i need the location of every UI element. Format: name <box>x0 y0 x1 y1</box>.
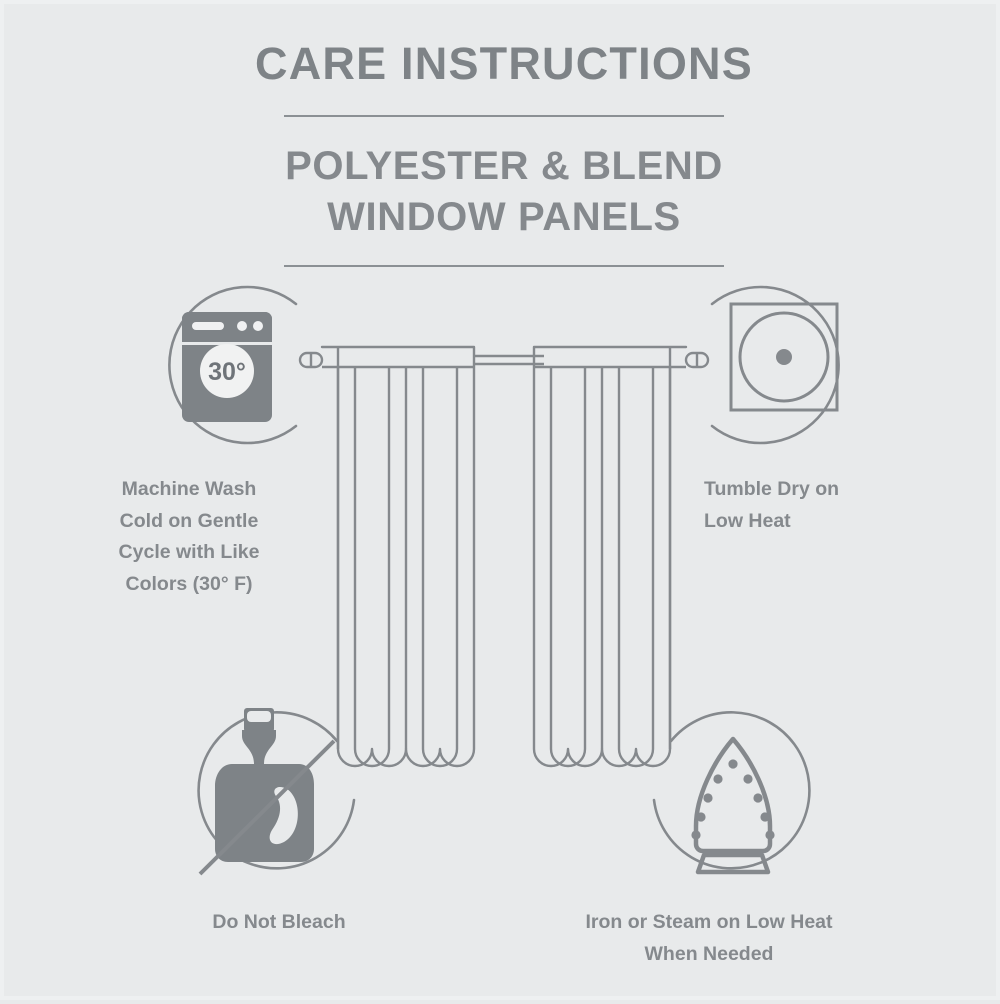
tumble-dry-caption: Tumble Dry on Low Heat <box>704 474 954 537</box>
right-pleat-1 <box>619 367 653 766</box>
iron-caption: Iron or Steam on Low Heat When Needed <box>534 907 884 970</box>
machine-wash-caption-line-1: Machine Wash <box>44 474 334 506</box>
tumble-dry-caption-line-2: Low Heat <box>704 506 954 538</box>
machine-wash-caption-line-4: Colors (30° F) <box>44 569 334 601</box>
curtain-illustration <box>300 347 708 766</box>
dryer-low-heat-dot <box>776 349 792 365</box>
machine-wash-caption-line-2: Cold on Gentle <box>44 506 334 538</box>
bleach-bottle-handle-hole <box>247 711 271 722</box>
curtain-rod-left-finial <box>300 353 322 367</box>
iron-caption-line-1: Iron or Steam on Low Heat <box>534 907 884 939</box>
right-panel-outline <box>534 347 686 766</box>
machine-wash-caption-line-3: Cycle with Like <box>44 537 334 569</box>
iron-steam-icon <box>691 739 774 872</box>
iron-circle <box>654 712 809 868</box>
tumble-dry-low-icon <box>731 304 837 410</box>
right-curtain-panel <box>534 347 686 766</box>
washer-control-slot <box>192 322 224 330</box>
washer-knob-1 <box>237 321 247 331</box>
machine-wash-caption: Machine Wash Cold on Gentle Cycle with L… <box>44 474 334 600</box>
left-pleat-1 <box>355 367 389 766</box>
left-panel-outline <box>322 347 474 766</box>
care-instructions-card: CARE INSTRUCTIONS POLYESTER & BLEND WIND… <box>0 0 1000 1000</box>
washer-temperature-label: 30° <box>208 358 246 386</box>
left-pleat-2 <box>423 367 457 766</box>
washing-machine-icon: 30° <box>182 312 272 422</box>
do-not-bleach-caption-line-1: Do Not Bleach <box>144 907 414 939</box>
iron-caption-line-2: When Needed <box>534 939 884 971</box>
iron-steam-holes <box>691 759 774 839</box>
tumble-dry-caption-line-1: Tumble Dry on <box>704 474 954 506</box>
left-curtain-panel <box>322 347 474 766</box>
no-bleach-icon <box>200 708 334 874</box>
washer-knob-2 <box>253 321 263 331</box>
do-not-bleach-caption: Do Not Bleach <box>144 907 414 939</box>
curtain-rod-right-finial <box>686 353 708 367</box>
right-pleat-2 <box>551 367 585 766</box>
